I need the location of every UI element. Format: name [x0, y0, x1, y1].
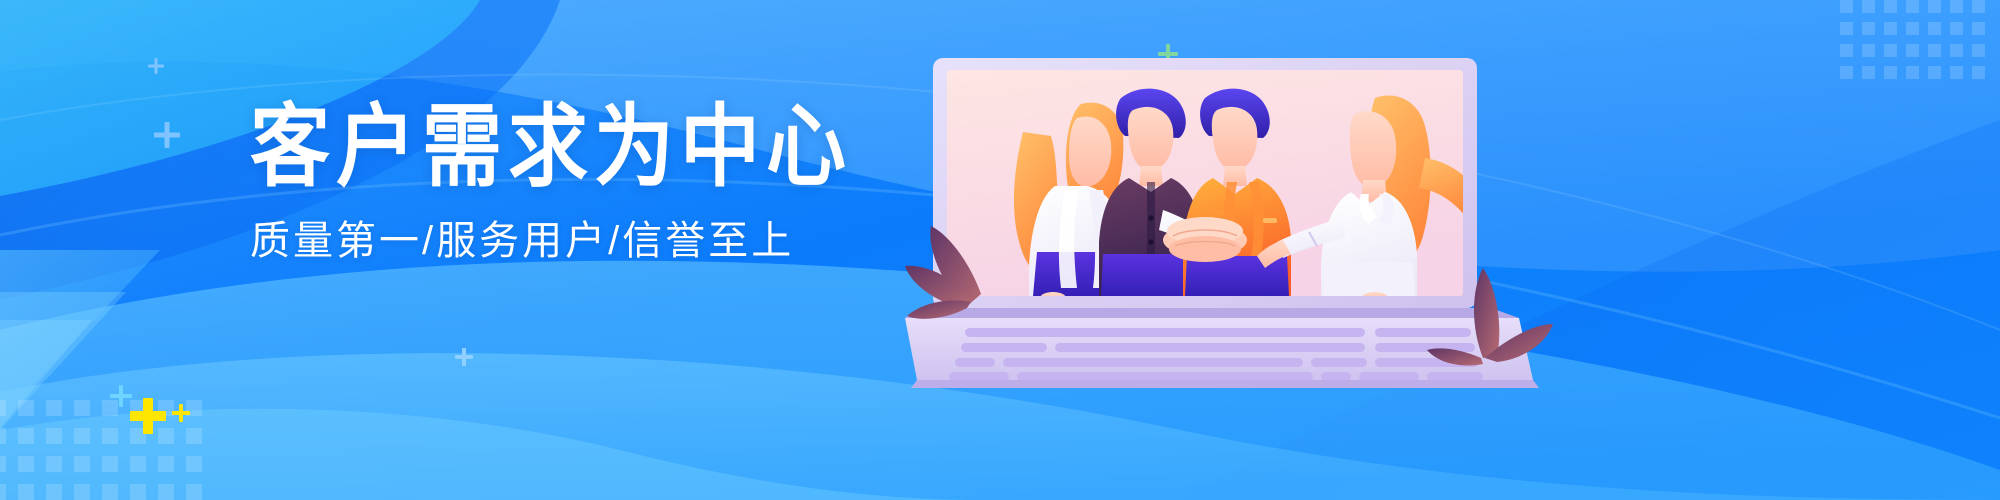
grid-dot	[102, 428, 118, 444]
plus-small-top-left-icon	[148, 58, 164, 74]
grid-dot	[1906, 66, 1919, 79]
grid-dot	[1950, 44, 1963, 57]
grid-dot	[1972, 0, 1985, 13]
grid-dot	[1862, 44, 1875, 57]
grid-dot	[18, 428, 34, 444]
plus-cyan-bottom-icon	[110, 385, 132, 407]
grid-dot	[1884, 66, 1897, 79]
grid-dot	[46, 484, 62, 500]
grid-dot	[186, 456, 202, 472]
grid-dot	[186, 428, 202, 444]
grid-dot	[1884, 22, 1897, 35]
grid-dot	[18, 400, 34, 416]
grid-dot	[158, 456, 174, 472]
grid-dot	[46, 400, 62, 416]
grid-dot	[1884, 44, 1897, 57]
grid-dot	[18, 484, 34, 500]
grid-dot	[102, 456, 118, 472]
grid-dot	[1928, 44, 1941, 57]
grid-dot	[0, 456, 6, 472]
grid-dot	[1840, 66, 1853, 79]
plus-yellow-bottom-tiny-icon	[172, 404, 190, 422]
team-handshake-scene	[1014, 89, 1481, 304]
grid-dot	[1972, 44, 1985, 57]
laptop-base	[905, 308, 1539, 388]
grid-dot	[0, 400, 6, 416]
grid-dot	[1862, 66, 1875, 79]
grid-dot	[1862, 0, 1875, 13]
grid-dot	[1884, 0, 1897, 13]
grid-dot	[18, 456, 34, 472]
grid-dot	[74, 484, 90, 500]
grid-dot	[1840, 0, 1853, 13]
plus-yellow-bottom-icon	[130, 398, 166, 434]
plus-white-bottom-mid-icon	[455, 348, 473, 366]
grid-dot	[1862, 22, 1875, 35]
grid-dot	[0, 484, 6, 500]
grid-dot	[74, 456, 90, 472]
grid-dot	[1928, 0, 1941, 13]
promo-banner: 客户需求为中心 质量第一/服务用户/信誉至上	[0, 0, 2000, 500]
grid-dot	[46, 428, 62, 444]
grid-dot	[1950, 22, 1963, 35]
dot-grid-top-right	[1840, 0, 1994, 88]
grid-dot	[74, 428, 90, 444]
grid-dot	[74, 400, 90, 416]
grid-dot	[1840, 44, 1853, 57]
grid-dot	[158, 484, 174, 500]
headline-block: 客户需求为中心 质量第一/服务用户/信誉至上	[250, 100, 950, 265]
grid-dot	[1906, 0, 1919, 13]
grid-dot	[0, 428, 6, 444]
grid-dot	[1906, 44, 1919, 57]
page-subtitle: 质量第一/服务用户/信誉至上	[250, 217, 950, 265]
grid-dot	[1906, 22, 1919, 35]
grid-dot	[130, 456, 146, 472]
grid-dot	[1972, 66, 1985, 79]
grid-dot	[1928, 66, 1941, 79]
grid-dot	[46, 456, 62, 472]
grid-dot	[102, 484, 118, 500]
grid-dot	[1950, 0, 1963, 13]
laptop-team-handshake-illustration	[905, 40, 1605, 390]
stacked-hands	[1163, 217, 1247, 262]
page-title: 客户需求为中心	[250, 100, 950, 195]
grid-dot	[1928, 22, 1941, 35]
grid-dot	[1972, 22, 1985, 35]
grid-dot	[130, 484, 146, 500]
grid-dot	[1840, 22, 1853, 35]
grid-dot	[1950, 66, 1963, 79]
grid-dot	[186, 484, 202, 500]
plus-medium-left-icon	[154, 122, 180, 148]
